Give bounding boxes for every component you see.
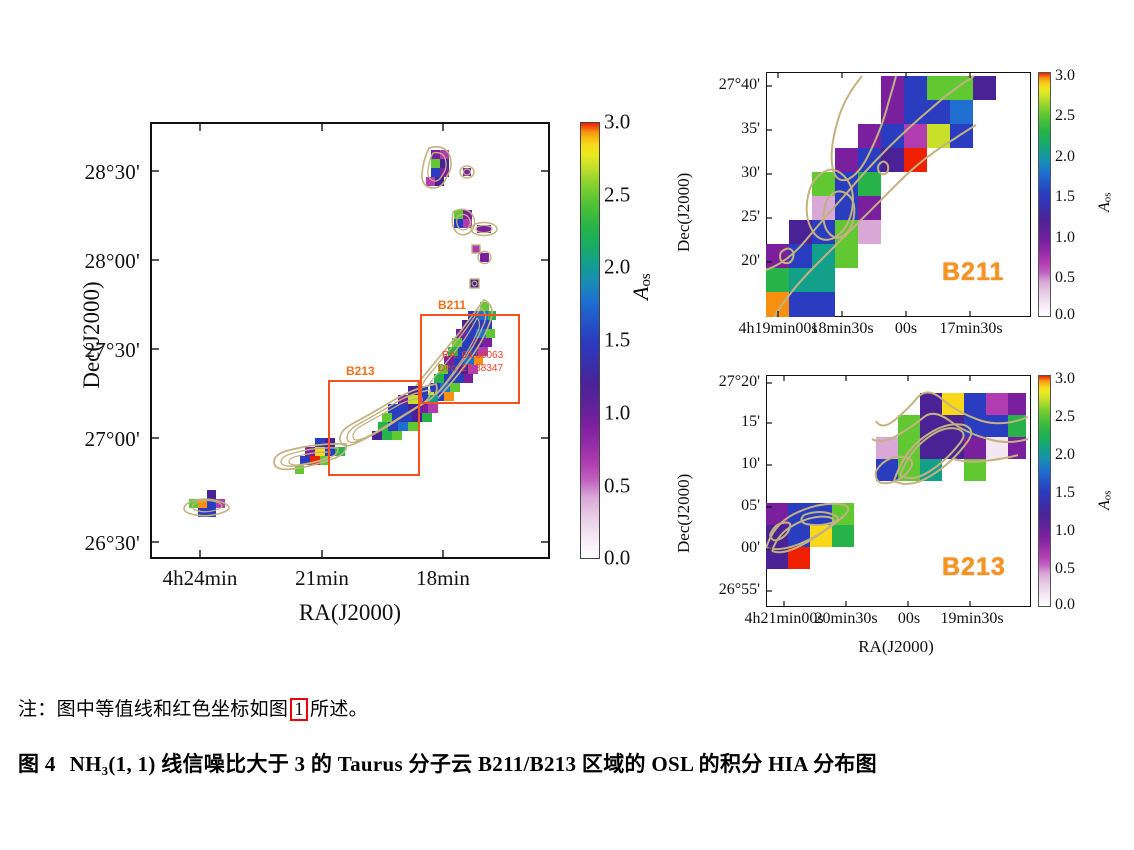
region-box-b213: [328, 380, 420, 476]
b213-region-name: B213: [942, 553, 1006, 582]
b211-region-name: B211: [942, 258, 1004, 287]
main-cbar-tick-4: 1.0: [604, 403, 630, 424]
b213-colorbar-title-sub: os: [1102, 491, 1114, 501]
clump-far-sw: [184, 490, 229, 517]
figure-caption-label: 图 4: [18, 752, 56, 776]
figure-note-prefix: 注：图中等值线和红色坐标如图: [18, 699, 288, 720]
main-colorbar-title: Aos: [628, 273, 655, 300]
b211-colorbar-title: Aos: [1096, 193, 1114, 212]
b213-cbar-tick-2: 2.0: [1055, 447, 1075, 463]
b213-cbar-tick-0: 3.0: [1055, 371, 1075, 387]
b211-cbar-tick-3: 1.5: [1055, 189, 1075, 205]
b213-cbar-tick-6: 0.0: [1055, 597, 1075, 613]
red-coord-dec: Dec: 27.38347: [438, 363, 503, 376]
b213-ytick-3: 05': [688, 497, 760, 515]
b211-cbar-tick-6: 0.0: [1055, 307, 1075, 323]
b213-cbar-tick-4: 1.0: [1055, 523, 1075, 539]
b211-colorbar-gradient: [1039, 73, 1050, 316]
main-ytick-0: 28°30': [20, 160, 140, 185]
b213-xtick-1: 20min30s: [802, 610, 890, 628]
b213-ytick-4: 00': [688, 539, 760, 557]
b211-map-panel: B211 27°40' 35' 30' 25' 20' 4h19min00s 1…: [766, 72, 1031, 317]
figure-note-suffix: 所述。: [310, 699, 368, 720]
b213-map-panel: B213 27°20' 15' 10' 05' 00' 26°55' 4h21m…: [766, 375, 1031, 607]
b211-xtick-1: 18min30s: [798, 320, 886, 338]
b211-ytick-2: 30': [688, 164, 760, 182]
clump-north-2: [460, 166, 474, 178]
b213-ytick-0: 27°20': [688, 373, 760, 391]
figure-caption-text: NH₃(1, 1) 线信噪比大于 3 的 Taurus 分子云 B211/B21…: [70, 752, 877, 776]
main-xtick-0: 4h24min: [125, 566, 275, 591]
b211-ytick-0: 27°40': [688, 76, 760, 94]
main-map-panel: B211 B213 RA: 64.66063 Dec: 27.38347 28°…: [150, 122, 550, 559]
main-xtick-1: 21min: [262, 566, 382, 591]
clump-north-6: [470, 279, 479, 288]
b213-ytick-2: 10': [688, 455, 760, 473]
main-cbar-tick-3: 1.5: [604, 330, 630, 351]
b213-x-axis-title: RA(J2000): [796, 637, 996, 657]
figure-note: 注：图中等值线和红色坐标如图1所述。: [18, 694, 368, 721]
main-x-axis-title: RA(J2000): [150, 600, 550, 626]
b213-colorbar-title: Aos: [1096, 491, 1114, 510]
clump-north-5: [472, 245, 491, 264]
figure-caption: 图 4NH₃(1, 1) 线信噪比大于 3 的 Taurus 分子云 B211/…: [18, 748, 1128, 778]
b213-cbar-tick-5: 0.5: [1055, 561, 1075, 577]
main-colorbar: [580, 122, 600, 559]
b213-cbar-tick-3: 1.5: [1055, 485, 1075, 501]
main-cbar-tick-0: 3.0: [604, 112, 630, 133]
main-y-axis-title: Dec(J2000): [79, 205, 105, 465]
b211-ytick-4: 20': [688, 252, 760, 270]
main-colorbar-title-main: A: [628, 287, 653, 300]
region-label-b211: B211: [438, 298, 466, 312]
b211-y-axis-title: Dec(J2000): [674, 173, 694, 252]
b213-colorbar: [1038, 375, 1051, 607]
main-xtick-2: 18min: [383, 566, 503, 591]
b213-cbar-tick-1: 2.5: [1055, 409, 1075, 425]
b213-ytick-1: 15': [688, 413, 760, 431]
clump-north-1: [422, 147, 451, 188]
figure-root: B211 B213 RA: 64.66063 Dec: 27.38347 28°…: [0, 0, 1134, 850]
main-cbar-tick-2: 2.0: [604, 257, 630, 278]
main-ytick-4: 26°30': [20, 531, 140, 556]
b211-xtick-2: 00s: [883, 320, 929, 338]
figure-note-reference: 1: [290, 698, 308, 721]
red-coord-ra: RA: 64.66063: [442, 350, 503, 363]
b211-colorbar: [1038, 72, 1051, 317]
b213-xtick-3: 19min30s: [926, 610, 1018, 628]
b211-ytick-1: 35': [688, 120, 760, 138]
b213-y-axis-title: Dec(J2000): [674, 474, 694, 553]
clump-north-4: [471, 223, 497, 236]
b211-colorbar-title-sub: os: [1102, 193, 1114, 203]
main-colorbar-title-sub: os: [638, 273, 654, 286]
b211-ytick-3: 25': [688, 208, 760, 226]
b211-cbar-tick-0: 3.0: [1055, 68, 1075, 84]
region-label-b213: B213: [346, 364, 375, 378]
main-colorbar-gradient: [581, 123, 599, 558]
b211-cbar-tick-5: 0.5: [1055, 270, 1075, 286]
b211-xtick-3: 17min30s: [925, 320, 1017, 338]
b211-cbar-tick-2: 2.0: [1055, 149, 1075, 165]
b213-colorbar-title-main: A: [1096, 500, 1113, 510]
b211-cbar-tick-4: 1.0: [1055, 230, 1075, 246]
b211-cbar-tick-1: 2.5: [1055, 108, 1075, 124]
b211-colorbar-title-main: A: [1096, 202, 1113, 212]
main-cbar-tick-5: 0.5: [604, 476, 630, 497]
b213-colorbar-gradient: [1039, 376, 1050, 606]
main-cbar-tick-6: 0.0: [604, 548, 630, 569]
main-cbar-tick-1: 2.5: [604, 185, 630, 206]
b213-ytick-5: 26°55': [678, 581, 760, 599]
